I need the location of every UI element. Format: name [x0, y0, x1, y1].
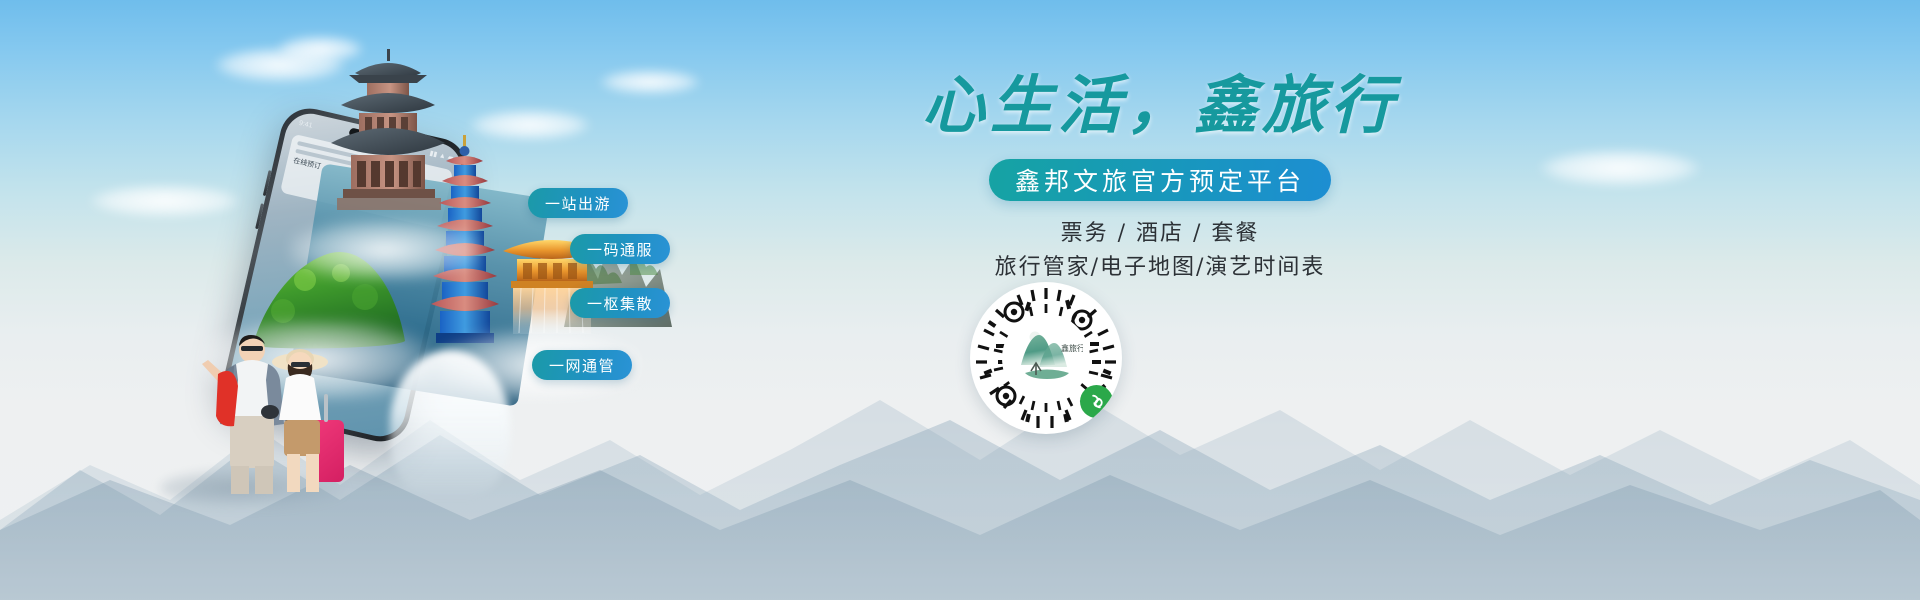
services-list: 票务 / 酒店 / 套餐 旅行管家/电子地图/演艺时间表: [810, 217, 1510, 285]
feature-pill-label: 一网通管: [549, 355, 615, 376]
feature-pill-one-hub-transfer[interactable]: 一枢集散: [570, 288, 670, 318]
status-time: 9:41: [298, 119, 313, 129]
official-platform-badge-label: 鑫邦文旅官方预定平台: [1015, 162, 1305, 198]
feature-pill-label: 一站出游: [545, 193, 611, 214]
feature-pill-label: 一码通服: [587, 239, 653, 260]
wechat-miniprogram-icon: [1080, 385, 1113, 418]
mountain-logo-icon: 鑫旅行: [1009, 321, 1083, 395]
banner-headline: 心生活，鑫旅行: [810, 70, 1510, 141]
qr-circle-background: 鑫旅行: [970, 282, 1122, 434]
feature-pill-one-stop-travel[interactable]: 一站出游: [528, 188, 628, 218]
phone-volume-button: [263, 170, 272, 196]
feature-pill-one-network-management[interactable]: 一网通管: [532, 350, 632, 380]
promo-banner: 9:41 ▮▮ ▲ ▰ 在线预订: [0, 0, 1920, 600]
wechat-qr-code[interactable]: 鑫旅行: [970, 282, 1122, 434]
waterfall-spray: [390, 350, 510, 500]
phone-volume-button-2: [255, 203, 264, 229]
official-platform-badge[interactable]: 鑫邦文旅官方预定平台: [989, 159, 1331, 201]
services-line-2: 旅行管家/电子地图/演艺时间表: [810, 251, 1510, 285]
feature-pill-label: 一枢集散: [587, 293, 653, 314]
feature-pill-one-code-service[interactable]: 一码通服: [570, 234, 670, 264]
traveler-couple: [190, 320, 355, 500]
male-traveler: [202, 335, 284, 494]
qr-logo-text: 鑫旅行: [1061, 343, 1083, 353]
cloud-5: [1540, 150, 1700, 186]
qr-brand-logo: 鑫旅行: [1002, 314, 1090, 402]
services-line-1: 票务 / 酒店 / 套餐: [810, 217, 1510, 251]
headline-block: 心生活，鑫旅行 鑫邦文旅官方预定平台 票务 / 酒店 / 套餐 旅行管家/电子地…: [810, 70, 1510, 285]
mist-1: [290, 220, 480, 280]
